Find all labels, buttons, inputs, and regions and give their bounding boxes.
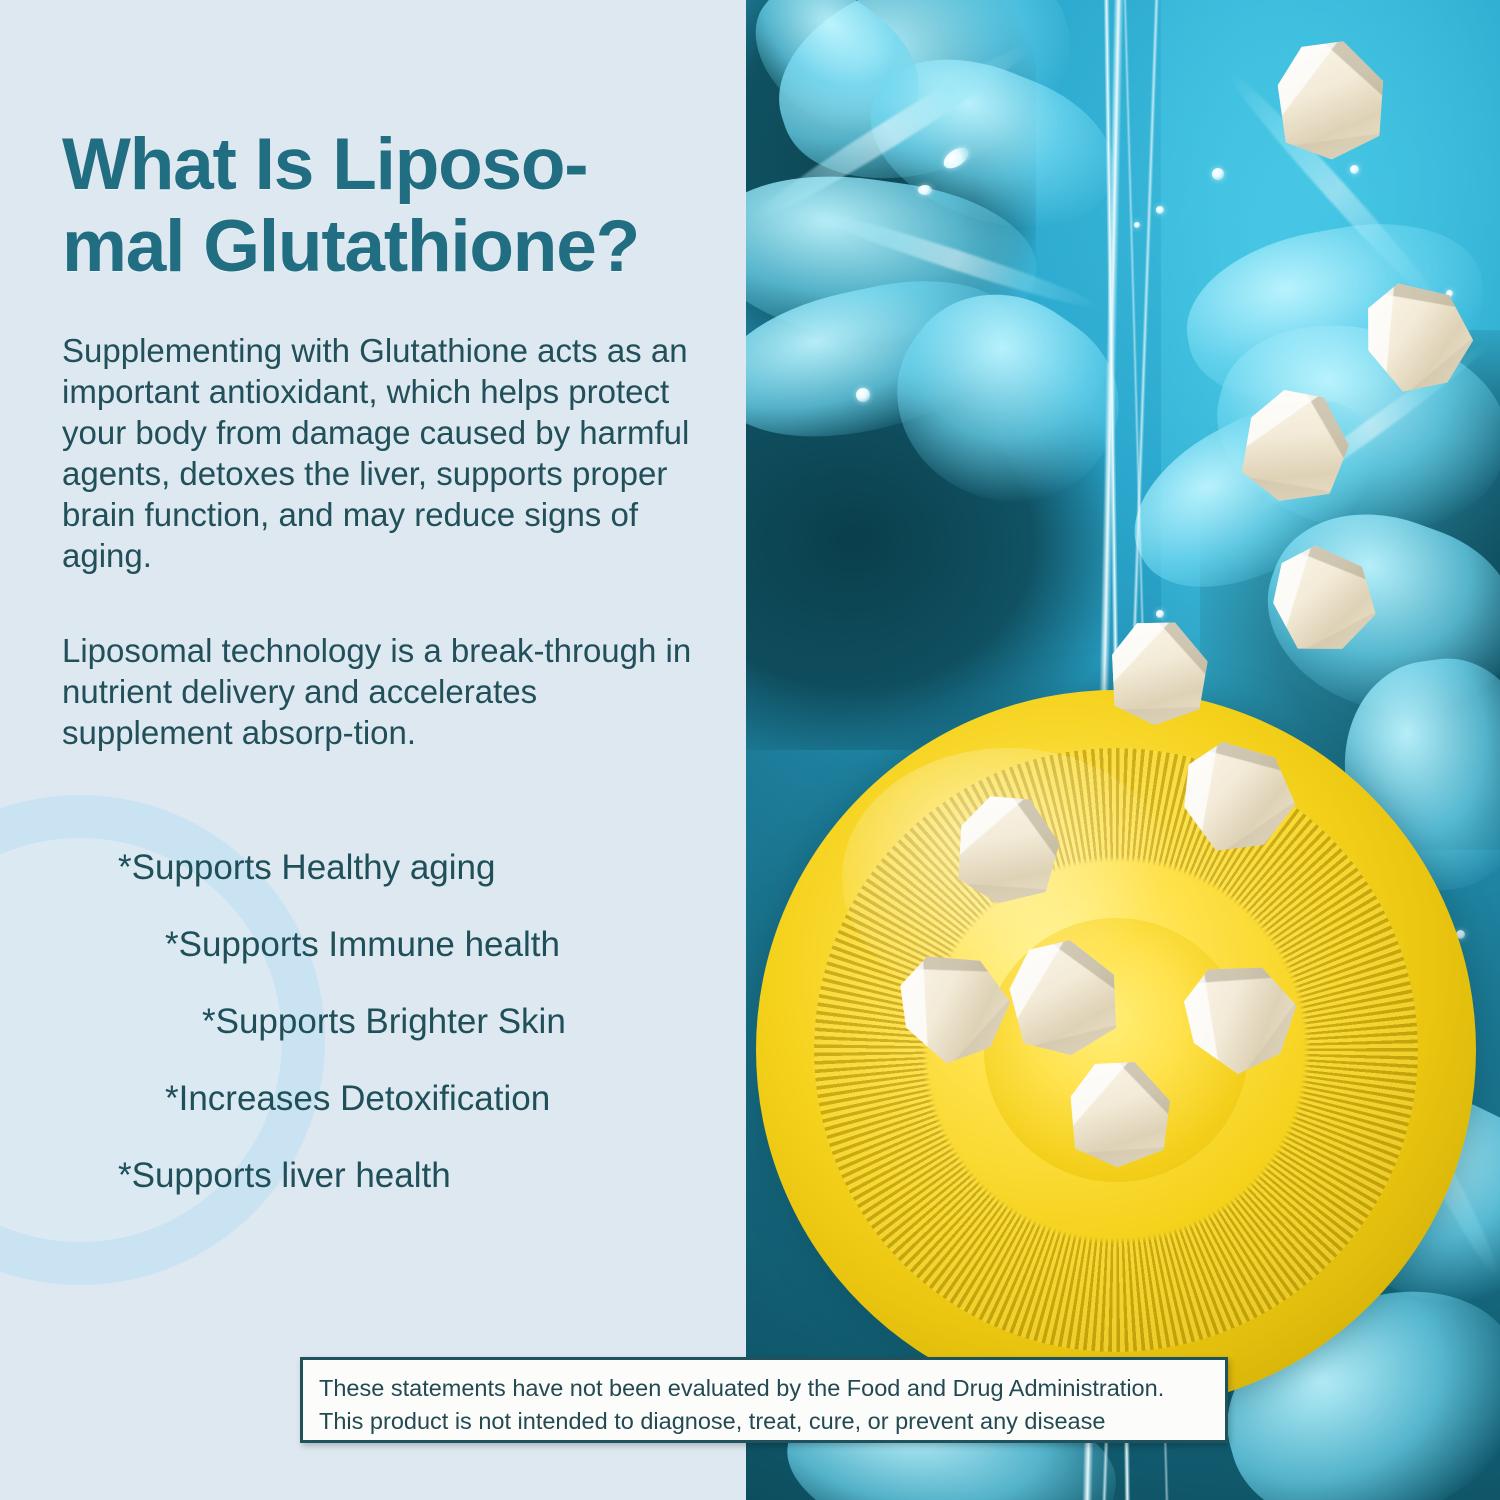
benefits-list: *Supports Healthy aging *Supports Immune… <box>62 850 702 1193</box>
benefit-item-brighter-skin: *Supports Brighter Skin <box>202 1004 702 1039</box>
disclaimer-line-1: These statements have not been evaluated… <box>319 1372 1209 1405</box>
description-paragraph-1: Supplementing with Glutathione acts as a… <box>62 331 702 576</box>
fda-disclaimer-box: These statements have not been evaluated… <box>300 1357 1228 1443</box>
water-droplet-6 <box>856 388 870 402</box>
product-infographic: What Is Liposo- mal Glutathione? Supplem… <box>0 0 1500 1500</box>
disclaimer-line-2: This product is not intended to diagnose… <box>319 1405 1209 1438</box>
water-droplet-3 <box>1212 168 1224 180</box>
page-title-line-1: What Is Liposo- <box>62 124 732 206</box>
benefit-item-healthy-aging: *Supports Healthy aging <box>118 850 702 885</box>
page-title: What Is Liposo- mal Glutathione? <box>62 124 732 289</box>
liposome-vesicle <box>756 690 1476 1410</box>
water-droplet-4 <box>1156 206 1164 214</box>
water-droplet-5 <box>1134 222 1140 228</box>
liposome-core <box>756 690 1476 1410</box>
benefit-item-detoxification: *Increases Detoxification <box>165 1081 702 1116</box>
water-droplet-8 <box>1350 165 1359 174</box>
page-title-line-2: mal Glutathione? <box>62 206 732 288</box>
benefit-item-immune-health: *Supports Immune health <box>165 927 702 962</box>
description-paragraph-2: Liposomal technology is a break-through … <box>62 631 702 754</box>
left-content-panel: What Is Liposo- mal Glutathione? Supplem… <box>0 0 746 1500</box>
water-droplet-9 <box>1156 610 1164 618</box>
water-droplet-2 <box>918 185 932 195</box>
benefit-item-liver-health: *Supports liver health <box>118 1158 702 1193</box>
liposome-illustration-image <box>746 0 1500 1500</box>
